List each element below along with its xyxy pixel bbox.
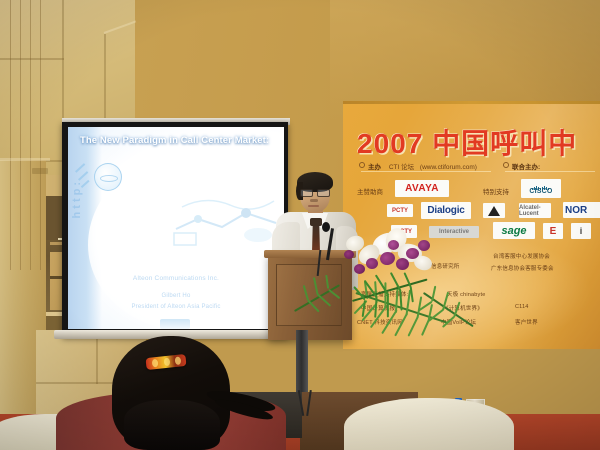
banner-coorganizer-row: 联合主办: xyxy=(503,161,540,171)
purple-orchid xyxy=(396,258,409,270)
podium-top-surface xyxy=(264,250,356,258)
sponsor-logo-nor: NOR xyxy=(563,202,600,218)
sponsor-logo-inter: i xyxy=(571,223,591,239)
media-item-0: 天极 chinabyte xyxy=(447,290,485,298)
slide-artwork xyxy=(172,189,282,249)
banner-underline xyxy=(505,171,595,172)
wall-outlet xyxy=(32,168,48,174)
sponsor-logo-pcty: PCTY xyxy=(387,204,413,217)
sponsor-logo-dialogic: Dialogic xyxy=(421,202,471,219)
conference-photo: 2007 中国呼叫中 主办 CTI 论坛 (www.ctiforum.com) … xyxy=(0,0,600,450)
banner-organizer-row: 主办 CTI 论坛 (www.ctiforum.com) xyxy=(359,161,477,171)
supporter-1: 台湾客服中心发展协会 xyxy=(493,252,550,260)
organizer-value: CTI 论坛 xyxy=(389,164,414,171)
eyeglasses-icon xyxy=(300,189,329,195)
triangle-icon xyxy=(488,206,500,216)
banner-title: 2007 中国呼叫中 xyxy=(357,122,577,162)
inter-mark: i xyxy=(580,226,583,236)
purple-orchid xyxy=(418,240,430,251)
slide-url-sidebar: http: xyxy=(71,179,83,218)
speaker-tie-knot xyxy=(310,218,322,226)
audience-hair-tail xyxy=(124,400,220,450)
microphone-icon xyxy=(322,222,330,232)
wainscot-board-line xyxy=(40,0,41,270)
special-support-label: 特别支持 xyxy=(483,186,509,196)
wainscot-board-line xyxy=(10,0,11,270)
cisco-wordmark: CISCO xyxy=(529,188,552,195)
slide-subtitle-name: Gilbert Ho xyxy=(68,293,284,299)
sponsor-logo-interactive: Interactive xyxy=(429,226,479,238)
clip-bead xyxy=(164,358,171,367)
audience-person-right xyxy=(344,398,514,450)
avaya-logo: AVAYA xyxy=(395,180,449,197)
media-item-3: C114 xyxy=(515,304,529,310)
banner-underline xyxy=(361,171,491,172)
organizer-label: 主办 xyxy=(368,164,381,171)
podium-front-panel xyxy=(276,264,342,326)
speaker-nose-shadow xyxy=(310,199,318,202)
sponsor-logo-sage: sage xyxy=(493,222,535,239)
slide-title: The New Paradigm in Call Center Market: xyxy=(80,135,284,146)
purple-orchid xyxy=(366,258,378,269)
slide-logo xyxy=(160,319,190,329)
sponsor-logo-zte: E xyxy=(543,223,563,239)
coorganizer-label: 联合主办: xyxy=(512,164,540,171)
organizer-url: (www.ctiforum.com) xyxy=(420,164,477,171)
sponsor-logo-triangle xyxy=(483,203,505,218)
supporter-2: 广东信息协会客服专委会 xyxy=(491,264,554,272)
media-item-6: 客户世界 xyxy=(515,318,538,326)
wainscot-cap xyxy=(0,158,50,161)
presentation-slide: http: The New Paradigm in Call Center Ma… xyxy=(68,127,284,329)
cisco-logo: CISCO xyxy=(521,179,561,198)
clip-bead xyxy=(152,359,159,368)
main-sponsor-label: 主赞助商 xyxy=(357,186,383,196)
globe-icon xyxy=(94,163,122,191)
cisco-bars-icon xyxy=(532,183,550,187)
supporter-research: 信息研究所 xyxy=(431,262,460,270)
purple-orchid xyxy=(344,250,354,259)
purple-orchid xyxy=(388,240,399,250)
sponsor-logo-alcatel-lucent: Alcatel-Lucent xyxy=(519,203,551,218)
zte-mark: E xyxy=(550,226,557,237)
bullet-icon xyxy=(503,162,509,168)
slide-subtitle-company: Alteon Communications Inc. xyxy=(68,275,284,282)
bullet-icon xyxy=(359,162,365,168)
clip-bead xyxy=(175,356,182,365)
wainscot-board-line xyxy=(30,0,31,270)
slide-subtitle-role: President of Alteon Asia Pacific xyxy=(68,304,284,310)
wainscot-board-line xyxy=(20,0,21,270)
purple-orchid xyxy=(406,248,419,259)
purple-orchid xyxy=(354,264,365,274)
speaker-mouth xyxy=(308,205,319,207)
